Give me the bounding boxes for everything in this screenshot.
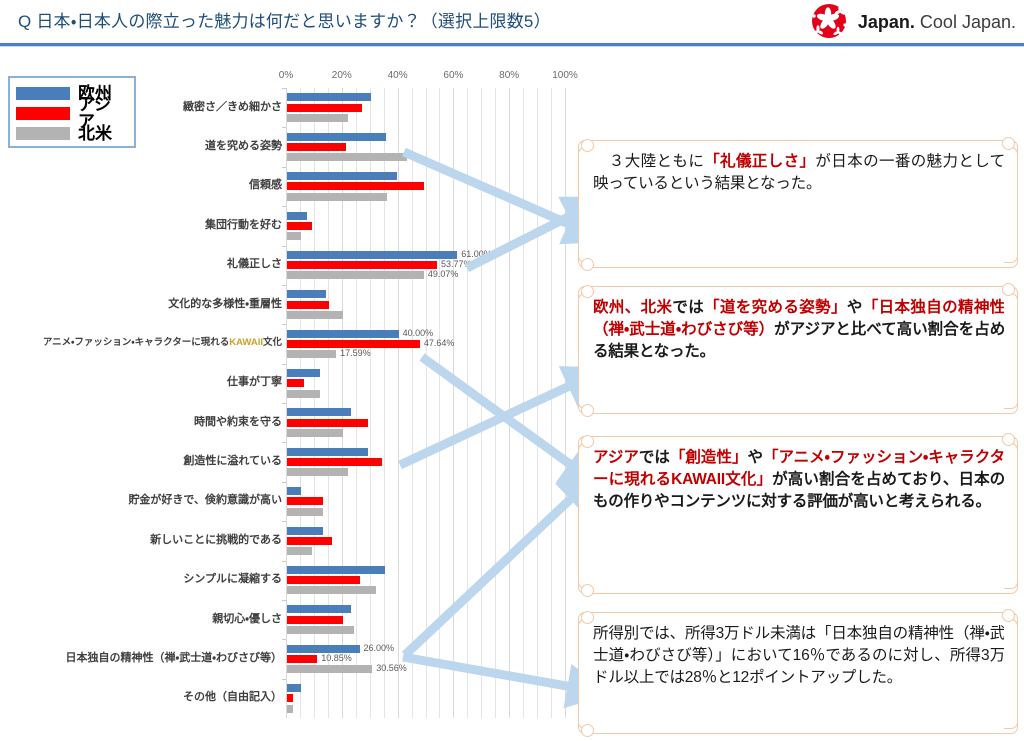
bar-eu [287, 251, 457, 259]
bar-na [287, 626, 354, 634]
bar-asia [287, 261, 437, 269]
category-tick [282, 521, 286, 522]
bar-data-label: 40.00% [403, 329, 434, 338]
logo-wordmark: Japan. Cool Japan. [858, 12, 1016, 33]
callout-politeness-text: ３大陸ともに「礼儀正しさ」が日本の一番の魅力として映っているという結果となった。 [593, 151, 1005, 195]
bar-na [287, 468, 348, 476]
bar-asia [287, 340, 420, 348]
scroll-curl-bottom-left [581, 404, 594, 417]
bar-asia [287, 497, 323, 505]
gridline [565, 88, 566, 718]
callout-run: 所得別では、所得3万ドル未満は「日本独自の精神性（禅・武士道・わびさび等）」にお… [593, 625, 1005, 686]
category-label: 仕事が丁寧 [0, 377, 282, 388]
category-label: 時間や約束を守る [0, 417, 282, 428]
scroll-curl-top-left [581, 435, 594, 448]
gridline [439, 88, 440, 718]
bar-eu [287, 684, 301, 692]
x-axis-tick-labels: 0%20%40%60%80%100% [0, 70, 572, 86]
category-label: アニメ・ファッション・キャラクターに現れるKAWAII文化 [0, 338, 282, 348]
scroll-right-edge [1004, 619, 1018, 729]
bar-na [287, 705, 293, 713]
callout-run: や [747, 449, 763, 466]
category-label: 緻密さ／きめ細かさ [0, 102, 282, 113]
category-tick [282, 679, 286, 680]
category-label: 集団行動を好む [0, 220, 282, 231]
bar-data-label: 26.00% [364, 644, 395, 653]
bar-eu [287, 645, 360, 653]
bar-data-label: 30.56% [376, 664, 407, 673]
callout-highlight-run: 「道を究める姿勢」 [704, 299, 847, 316]
bar-na [287, 547, 312, 555]
callout-highlight-run: 欧州、北米 [593, 299, 672, 316]
bar-asia [287, 222, 312, 230]
bar-asia [287, 616, 343, 624]
bar-eu [287, 448, 368, 456]
scroll-curl-bottom-left [581, 724, 594, 737]
bar-eu [287, 605, 351, 613]
x-tick-3: 60% [443, 70, 463, 81]
bar-asia [287, 104, 362, 112]
category-tick [282, 285, 286, 286]
x-tick-5: 100% [552, 70, 578, 81]
scroll-left-edge [578, 293, 592, 409]
bar-eu [287, 330, 399, 338]
callout-europe-namerica: 欧州、北米では「道を究める姿勢」や「日本独自の精神性（禅・武士道・わびさび等）が… [578, 286, 1018, 414]
callout-income-text: 所得別では、所得3万ドル未満は「日本独自の精神性（禅・武士道・わびさび等）」にお… [593, 623, 1005, 689]
category-label: 新しいことに挑戦的である [0, 535, 282, 546]
scroll-curl-top-right [1002, 137, 1015, 150]
category-tick [282, 639, 286, 640]
bar-na [287, 350, 336, 358]
x-tick-4: 80% [499, 70, 519, 81]
category-tick [282, 246, 286, 247]
category-tick [282, 561, 286, 562]
category-label: 日本独自の精神性（禅・武士道・わびさび等） [0, 653, 282, 664]
scroll-right-edge [1004, 293, 1018, 409]
category-label: 文化的な多様性・重層性 [0, 299, 282, 310]
category-tick [282, 403, 286, 404]
gridline [453, 88, 454, 718]
category-label: 礼儀正しさ [0, 259, 282, 270]
bar-asia [287, 694, 293, 702]
category-tick [282, 167, 286, 168]
gridline [523, 88, 524, 718]
scroll-curl-top-right [1002, 283, 1015, 296]
bar-asia [287, 655, 317, 663]
scroll-curl-top-left [581, 611, 594, 624]
callout-highlight-run: 「創造性」 [670, 449, 748, 466]
category-tick [282, 600, 286, 601]
bar-eu [287, 133, 386, 141]
bar-data-label: 61.00% [461, 250, 492, 259]
slide-root: Q 日本・日本人の際立った魅力は何だと思いますか？（選択上限数5） [0, 0, 1024, 741]
bar-eu [287, 93, 371, 101]
bar-asia [287, 537, 332, 545]
bar-data-label: 17.59% [340, 349, 371, 358]
bar-data-label: 10.85% [321, 654, 352, 663]
scroll-left-edge [578, 619, 592, 729]
scroll-left-edge [578, 443, 592, 589]
category-label: 親切心・優しさ [0, 614, 282, 625]
category-tick [282, 206, 286, 207]
cool-japan-logo: Japan. Cool Japan. [809, 0, 1016, 44]
scroll-curl-bottom-left [581, 584, 594, 597]
bar-eu [287, 172, 397, 180]
gridline [537, 88, 538, 718]
scroll-right-edge [1004, 147, 1018, 263]
chart-plot-area: 61.00%53.77%49.07%40.00%47.64%17.59%26.0… [286, 88, 565, 718]
category-label: 創造性に溢れている [0, 456, 282, 467]
category-tick [282, 364, 286, 365]
bar-na [287, 271, 424, 279]
bar-data-label: 53.77% [441, 260, 472, 269]
slide-header: Q 日本・日本人の際立った魅力は何だと思いますか？（選択上限数5） [0, 0, 1024, 44]
callout-run: ３大陸ともに [593, 153, 704, 170]
bar-na [287, 114, 348, 122]
gridline [551, 88, 552, 718]
scroll-right-edge [1004, 443, 1018, 589]
category-label: シンプルに凝縮する [0, 574, 282, 585]
bar-eu [287, 212, 307, 220]
bar-na [287, 390, 320, 398]
logo-brand: Japan. [858, 12, 915, 32]
callout-run: では [639, 449, 670, 466]
bar-eu [287, 487, 301, 495]
bar-asia [287, 379, 304, 387]
bar-eu [287, 408, 351, 416]
bar-asia [287, 301, 329, 309]
bar-eu [287, 527, 323, 535]
bar-asia [287, 576, 360, 584]
page-title: Q 日本・日本人の際立った魅力は何だと思いますか？（選択上限数5） [18, 7, 551, 32]
category-label: 道を究める姿勢 [0, 141, 282, 152]
gridline [426, 88, 427, 718]
category-label: 信頼感 [0, 180, 282, 191]
callout-asia: アジアでは「創造性」や「アニメ・ファッション・キャラクターに現れるKAWAII文… [578, 436, 1018, 594]
callout-run: では [672, 299, 704, 316]
scroll-curl-top-left [581, 139, 594, 152]
gridline [495, 88, 496, 718]
scroll-left-edge [578, 147, 592, 263]
scroll-curl-top-right [1002, 433, 1015, 446]
bar-asia [287, 419, 368, 427]
bar-na [287, 193, 387, 201]
bar-na [287, 429, 343, 437]
callout-europe-namerica-text: 欧州、北米では「道を究める姿勢」や「日本独自の精神性（禅・武士道・わびさび等）が… [593, 297, 1005, 363]
scroll-curl-top-right [1002, 609, 1015, 622]
header-divider-light [0, 46, 1024, 47]
bar-eu [287, 369, 320, 377]
bar-asia [287, 143, 346, 151]
gridline [481, 88, 482, 718]
bar-na [287, 665, 372, 673]
bar-na [287, 232, 301, 240]
bar-na [287, 508, 323, 516]
category-tick [282, 442, 286, 443]
category-tick [282, 324, 286, 325]
callout-highlight-run: アジア [593, 449, 639, 466]
bar-data-label: 49.07% [428, 270, 459, 279]
x-tick-0: 0% [279, 70, 293, 81]
callout-income: 所得別では、所得3万ドル未満は「日本独自の精神性（禅・武士道・わびさび等）」にお… [578, 612, 1018, 734]
logo-tagline: Cool Japan. [915, 12, 1016, 32]
x-tick-1: 20% [332, 70, 352, 81]
bar-na [287, 153, 407, 161]
scroll-curl-bottom-left [581, 258, 594, 271]
bar-asia [287, 182, 424, 190]
survey-bar-chart: 0%20%40%60%80%100% 61.00%53.77%49.07%40.… [0, 70, 572, 730]
callout-asia-text: アジアでは「創造性」や「アニメ・ファッション・キャラクターに現れるKAWAII文… [593, 447, 1005, 513]
bar-na [287, 586, 376, 594]
bar-asia [287, 458, 382, 466]
bar-eu [287, 566, 385, 574]
category-label: 貯金が好きで、倹約意識が高い [0, 495, 282, 506]
category-label: その他（自由記入） [0, 692, 282, 703]
category-tick [282, 88, 286, 89]
gridline [467, 88, 468, 718]
category-tick [282, 127, 286, 128]
category-tick [282, 482, 286, 483]
kawaii-highlight: KAWAII [229, 337, 263, 348]
bar-eu [287, 290, 326, 298]
scroll-curl-top-left [581, 285, 594, 298]
callout-highlight-run: 「礼儀正しさ」 [704, 153, 815, 170]
callout-run: や [847, 299, 863, 316]
bar-data-label: 47.64% [424, 339, 455, 348]
bar-na [287, 311, 343, 319]
x-tick-2: 40% [388, 70, 408, 81]
gridline [509, 88, 510, 718]
cherry-blossom-sun-icon [809, 1, 851, 43]
callout-politeness: ３大陸ともに「礼儀正しさ」が日本の一番の魅力として映っているという結果となった。 [578, 140, 1018, 268]
